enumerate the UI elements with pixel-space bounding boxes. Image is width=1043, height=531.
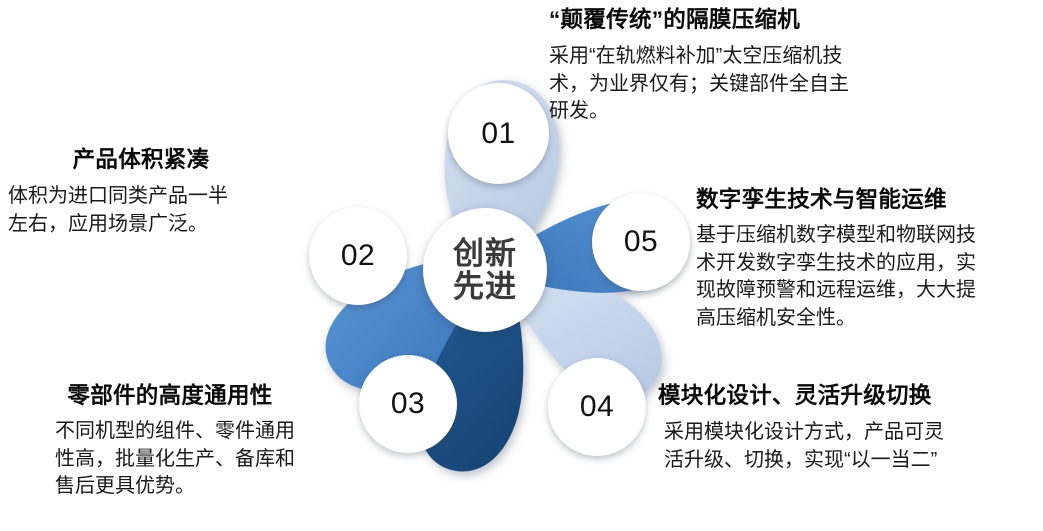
item-block-04: 模块化设计、灵活升级切换 采用模块化设计方式，产品可灵 活升级、切换，实现“以一… [658,378,1043,474]
item-body-03: 不同机型的组件、零件通用 性高，批量化生产、备库和 售后更具优势。 [0,418,350,501]
petal-number-03-label: 03 [391,387,425,421]
item-body-03-line-3: 售后更具优势。 [55,473,350,501]
item-body-02-line-2: 左右，应用场景广泛。 [8,211,290,239]
center-hub[interactable]: 创新 先进 [423,208,547,332]
petal-number-05-label: 05 [624,225,658,259]
item-body-02: 体积为进口同类产品一半 左右，应用场景广泛。 [0,183,290,238]
item-body-05-line-1: 基于压缩机数字模型和物联网技 [696,222,1041,250]
petal-number-02-label: 02 [341,239,375,273]
item-body-04: 采用模块化设计方式，产品可灵 活升级、切换，实现“以一当二” [658,419,1043,474]
item-title-04: 模块化设计、灵活升级切换 [658,378,1043,410]
item-body-01-line-1: 采用“在轨燃料补加”太空压缩机技 [549,43,1019,71]
item-body-05-line-2: 术开发数字孪生技术的应用，实 [696,250,1041,278]
infographic-canvas: 01 02 03 04 05 创新 先进 “颠覆传统”的隔膜压缩机 采用“在轨燃… [0,0,1043,531]
item-body-01-line-2: 术，为业界仅有；关键部件全自主 [549,71,1019,99]
item-body-04-line-1: 采用模块化设计方式，产品可灵 [664,419,1043,447]
petal-number-02[interactable]: 02 [309,207,407,305]
petal-number-03[interactable]: 03 [359,355,457,453]
petal-number-05[interactable]: 05 [592,193,690,291]
petal-number-04-label: 04 [580,390,614,424]
item-body-05-line-3: 现故障预警和远程运维，大大提 [696,277,1041,305]
item-body-02-line-1: 体积为进口同类产品一半 [8,183,290,211]
petal-number-04[interactable]: 04 [548,358,646,456]
item-title-01: “颠覆传统”的隔膜压缩机 [549,2,1019,34]
item-title-03: 零部件的高度通用性 [0,378,350,410]
item-body-01: 采用“在轨燃料补加”太空压缩机技 术，为业界仅有；关键部件全自主 研发。 [549,43,1019,126]
item-title-02: 产品体积紧凑 [0,142,290,174]
item-block-03: 零部件的高度通用性 不同机型的组件、零件通用 性高，批量化生产、备库和 售后更具… [0,378,350,501]
item-body-05: 基于压缩机数字模型和物联网技 术开发数字孪生技术的应用，实 现故障预警和远程运维… [696,222,1041,332]
item-block-02: 产品体积紧凑 体积为进口同类产品一半 左右，应用场景广泛。 [0,142,290,238]
item-body-01-line-3: 研发。 [549,98,1019,126]
center-hub-line-2: 先进 [453,270,517,303]
item-body-04-line-2: 活升级、切换，实现“以一当二” [664,447,1043,475]
petal-number-01-label: 01 [481,117,515,151]
item-block-05: 数字孪生技术与智能运维 基于压缩机数字模型和物联网技 术开发数字孪生技术的应用，… [696,182,1041,332]
item-body-05-line-4: 高压缩机安全性。 [696,305,1041,333]
item-block-01: “颠覆传统”的隔膜压缩机 采用“在轨燃料补加”太空压缩机技 术，为业界仅有；关键… [549,2,1019,126]
item-body-03-line-2: 性高，批量化生产、备库和 [55,446,350,474]
petal-number-01[interactable]: 01 [448,83,549,184]
center-hub-line-1: 创新 [453,237,517,270]
item-title-05: 数字孪生技术与智能运维 [696,182,1041,214]
item-body-03-line-1: 不同机型的组件、零件通用 [55,418,350,446]
